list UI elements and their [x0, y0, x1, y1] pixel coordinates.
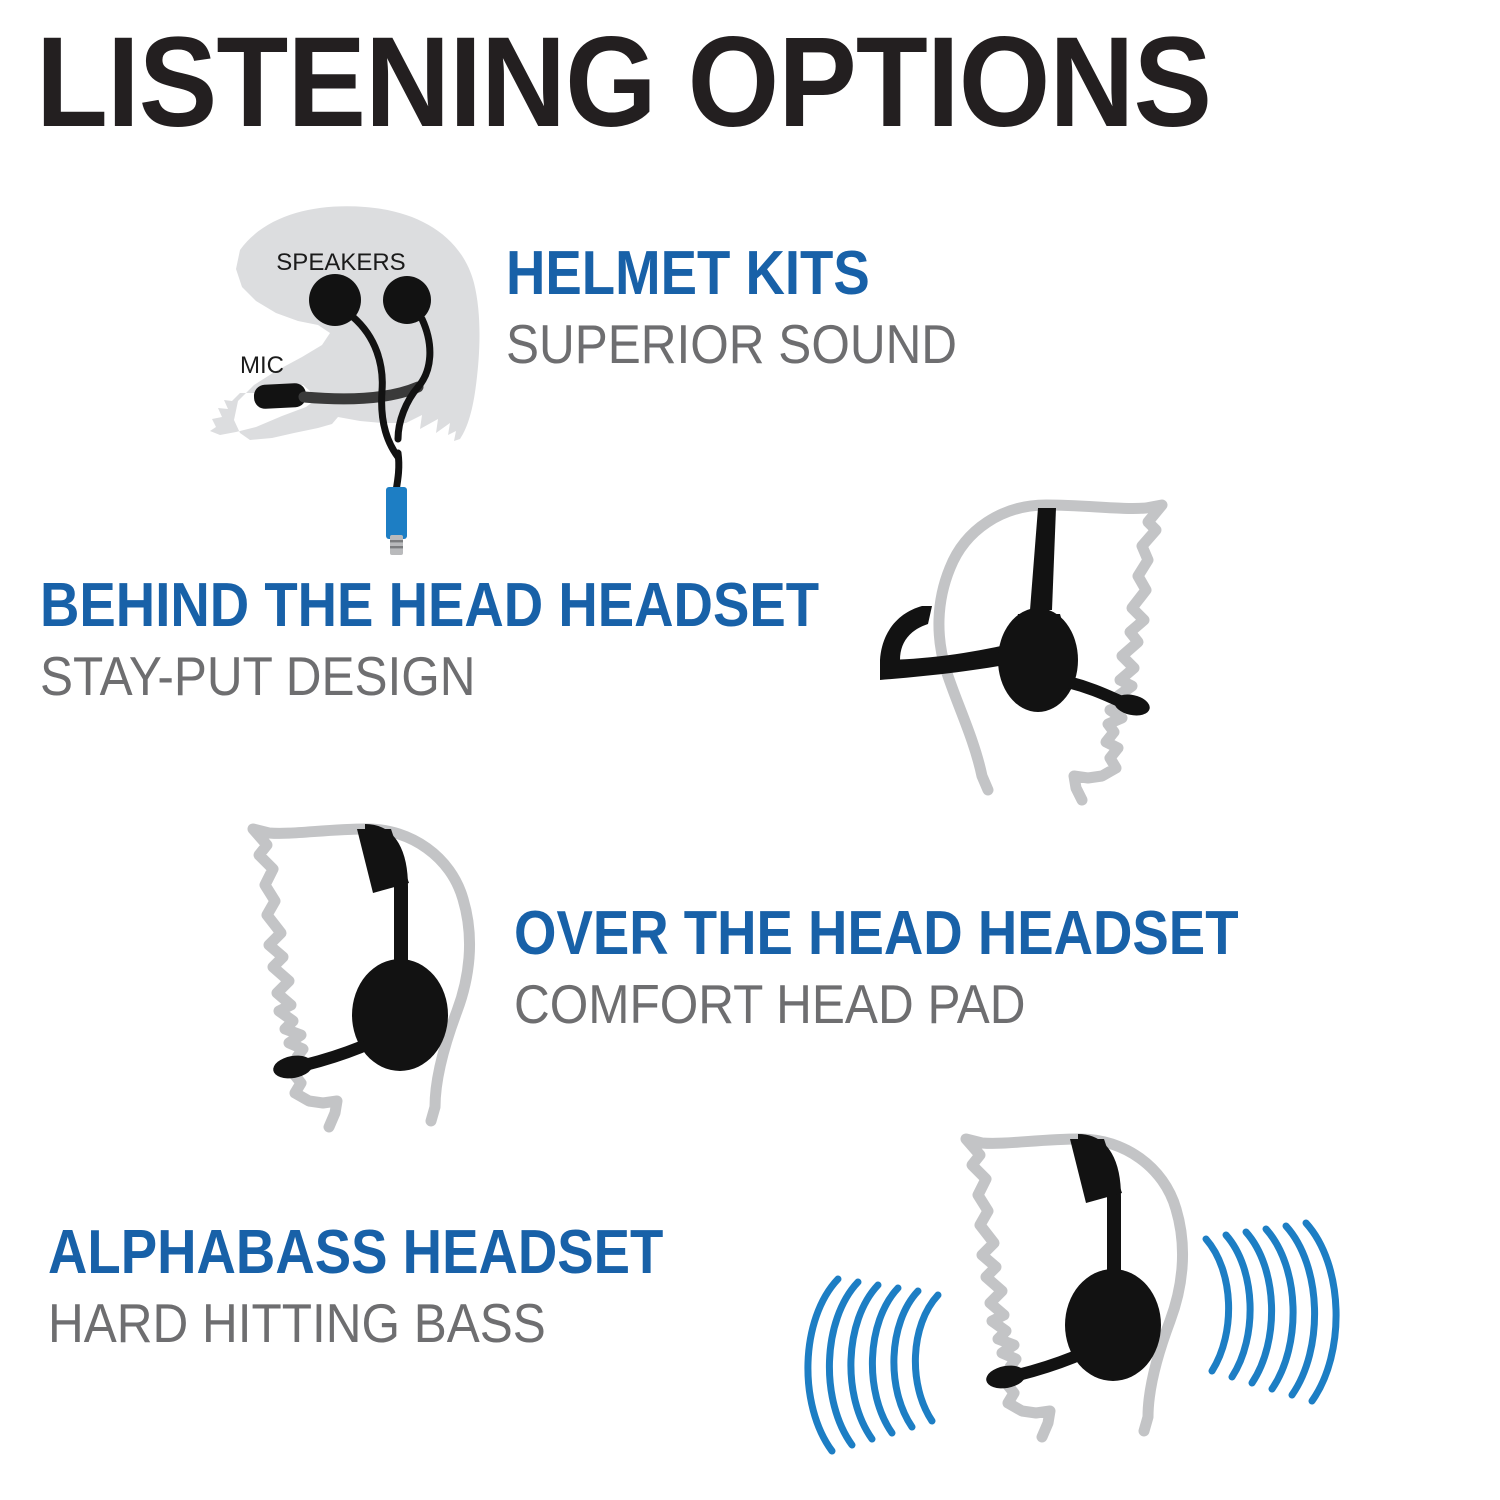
boom-mic-arm: [305, 1047, 361, 1065]
audio-jack-ring-2: [390, 546, 403, 548]
option-subtitle-over-the-head: COMFORT HEAD PAD: [514, 977, 1255, 1032]
mic-callout-label: MIC: [240, 352, 284, 379]
audio-jack-ring-1: [390, 540, 403, 542]
option-title-alphabass: ALPHABASS HEADSET: [48, 1222, 663, 1284]
option-text-over-the-head: OVER THE HEAD HEADSET COMFORT HEAD PAD: [514, 903, 1337, 1032]
audio-jack-housing: [386, 487, 407, 539]
ear-cup: [352, 959, 448, 1071]
headset-top-strap: [1030, 508, 1056, 610]
boom-mic-capsule: [984, 1363, 1027, 1392]
boom-mic-capsule: [271, 1053, 314, 1082]
option-title-helmet-kits: HELMET KITS: [506, 243, 947, 305]
sound-waves-left: [808, 1279, 938, 1451]
head-profile-outline: [253, 829, 470, 1127]
option-title-behind-the-head: BEHIND THE HEAD HEADSET: [40, 575, 819, 637]
option-subtitle-behind-the-head: STAY-PUT DESIGN: [40, 649, 837, 704]
audio-cable: [396, 453, 399, 491]
audio-jack-tip: [390, 535, 403, 555]
infographic-page: LISTENING OPTIONS SPEAKERS MIC: [0, 0, 1500, 1500]
boom-mic-arm: [1068, 682, 1122, 702]
option-text-alphabass: ALPHABASS HEADSET HARD HITTING BASS: [48, 1222, 747, 1351]
boom-mic-arm: [1018, 1357, 1074, 1375]
option-text-helmet-kits: HELMET KITS SUPERIOR SOUND: [506, 243, 1007, 372]
ear-cup-yoke: [1014, 614, 1064, 628]
sound-waves-right: [1206, 1223, 1336, 1401]
option-subtitle-alphabass: HARD HITTING BASS: [48, 1296, 677, 1351]
speakers-callout-label: SPEAKERS: [276, 249, 405, 276]
head-profile-outline: [966, 1139, 1183, 1437]
option-text-behind-the-head: BEHIND THE HEAD HEADSET STAY-PUT DESIGN: [40, 575, 925, 704]
option-subtitle-helmet-kits: SUPERIOR SOUND: [506, 317, 957, 372]
helmet-kit-illustration: SPEAKERS MIC: [210, 195, 510, 555]
over-the-head-headset-illustration: [195, 815, 545, 1155]
option-title-over-the-head: OVER THE HEAD HEADSET: [514, 903, 1239, 965]
behind-neck-band: [880, 606, 932, 660]
alphabass-headset-illustration: [790, 1125, 1360, 1490]
page-title: LISTENING OPTIONS: [36, 18, 1211, 149]
behind-the-head-headset-illustration: [870, 490, 1220, 820]
ear-cup: [1065, 1269, 1161, 1381]
